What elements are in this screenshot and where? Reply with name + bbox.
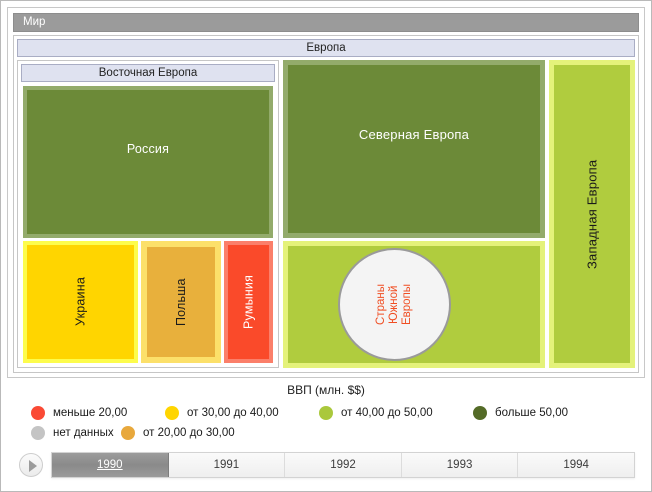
treemap-group-header-eastern-europe[interactable]: Восточная Европа	[21, 64, 275, 82]
timeline-step-1992[interactable]: 1992	[285, 453, 402, 477]
treemap-bubble-southern-europe[interactable]: Страны Южной Европы	[338, 248, 451, 361]
legend-label-no-data: нет данных	[53, 427, 114, 439]
treemap-leaf-russia[interactable]: Россия	[23, 86, 273, 238]
treemap-leaf-poland[interactable]: Польша	[141, 241, 221, 363]
legend-swatch-icon-red	[31, 406, 45, 420]
timeline-step-label-1992: 1992	[330, 459, 356, 471]
treemap-leaf-western-europe[interactable]: Западная Европа	[549, 60, 635, 368]
legend-item-more-than-50[interactable]: больше 50,00	[473, 403, 583, 423]
treemap-chart: Мир Европа Восточная Европа Россия Украи…	[7, 7, 645, 378]
treemap-leaf-southern-europe[interactable]: Страны Южной Европы	[283, 241, 545, 368]
treemap-group-header-europe[interactable]: Европа	[17, 39, 635, 57]
treemap-leaf-northern-europe[interactable]: Северная Европа	[283, 60, 545, 238]
legend-item-20-to-30[interactable]: от 20,00 до 30,00	[121, 423, 261, 443]
treemap-leaf-label-ukraine: Украина	[27, 245, 134, 359]
legend: ВВП (млн. $$) меньше 20,00 от 30,00 до 4…	[7, 383, 645, 437]
legend-label-30-to-40: от 30,00 до 40,00	[187, 407, 279, 419]
legend-swatch-icon-gray	[31, 426, 45, 440]
timeline-step-label-1990: 1990	[97, 459, 123, 471]
timeline-step-1990[interactable]: 1990	[52, 453, 169, 477]
legend-swatch-icon-orange	[121, 426, 135, 440]
treemap-application-window: Мир Европа Восточная Европа Россия Украи…	[0, 0, 652, 492]
timeline-control: 1990 1991 1992 1993 1994	[7, 444, 645, 487]
legend-swatch-icon-yellow	[165, 406, 179, 420]
play-icon	[29, 460, 37, 472]
legend-item-40-to-50[interactable]: от 40,00 до 50,00	[319, 403, 459, 423]
legend-label-less-than-20: меньше 20,00	[53, 407, 127, 419]
treemap-leaf-label-russia: Россия	[27, 90, 269, 238]
treemap-leaf-romania[interactable]: Румыния	[224, 241, 273, 363]
timeline-step-label-1991: 1991	[214, 459, 240, 471]
timeline-step-1993[interactable]: 1993	[402, 453, 519, 477]
timeline-step-1991[interactable]: 1991	[169, 453, 286, 477]
legend-label-20-to-30: от 20,00 до 30,00	[143, 427, 235, 439]
treemap-leaf-label-northern-europe: Северная Европа	[288, 65, 540, 238]
treemap-bubble-label-southern-europe: Страны Южной Европы	[340, 250, 449, 359]
timeline-track[interactable]: 1990 1991 1992 1993 1994	[51, 452, 635, 478]
treemap-leaf-label-poland: Польша	[147, 247, 215, 357]
timeline-step-label-1993: 1993	[447, 459, 473, 471]
legend-items: меньше 20,00 от 30,00 до 40,00 от 40,00 …	[31, 403, 645, 443]
legend-item-30-to-40[interactable]: от 30,00 до 40,00	[165, 403, 305, 423]
treemap-leaf-label-romania: Румыния	[228, 245, 269, 359]
treemap-leaf-ukraine[interactable]: Украина	[23, 241, 138, 363]
legend-title: ВВП (млн. $$)	[7, 383, 645, 397]
timeline-step-1994[interactable]: 1994	[518, 453, 634, 477]
legend-swatch-icon-light-green	[319, 406, 333, 420]
treemap-group-europe[interactable]: Европа Восточная Европа Россия Украина	[13, 35, 639, 373]
treemap-group-eastern-europe[interactable]: Восточная Европа Россия Украина По	[17, 60, 279, 368]
treemap-root-header-world[interactable]: Мир	[13, 13, 639, 32]
legend-item-no-data[interactable]: нет данных	[31, 423, 121, 443]
play-button[interactable]	[19, 453, 43, 477]
treemap-leaf-label-western-europe: Западная Европа	[554, 65, 630, 363]
legend-label-more-than-50: больше 50,00	[495, 407, 568, 419]
legend-item-less-than-20[interactable]: меньше 20,00	[31, 403, 151, 423]
timeline-step-label-1994: 1994	[563, 459, 589, 471]
legend-label-40-to-50: от 40,00 до 50,00	[341, 407, 433, 419]
legend-swatch-icon-dark-green	[473, 406, 487, 420]
